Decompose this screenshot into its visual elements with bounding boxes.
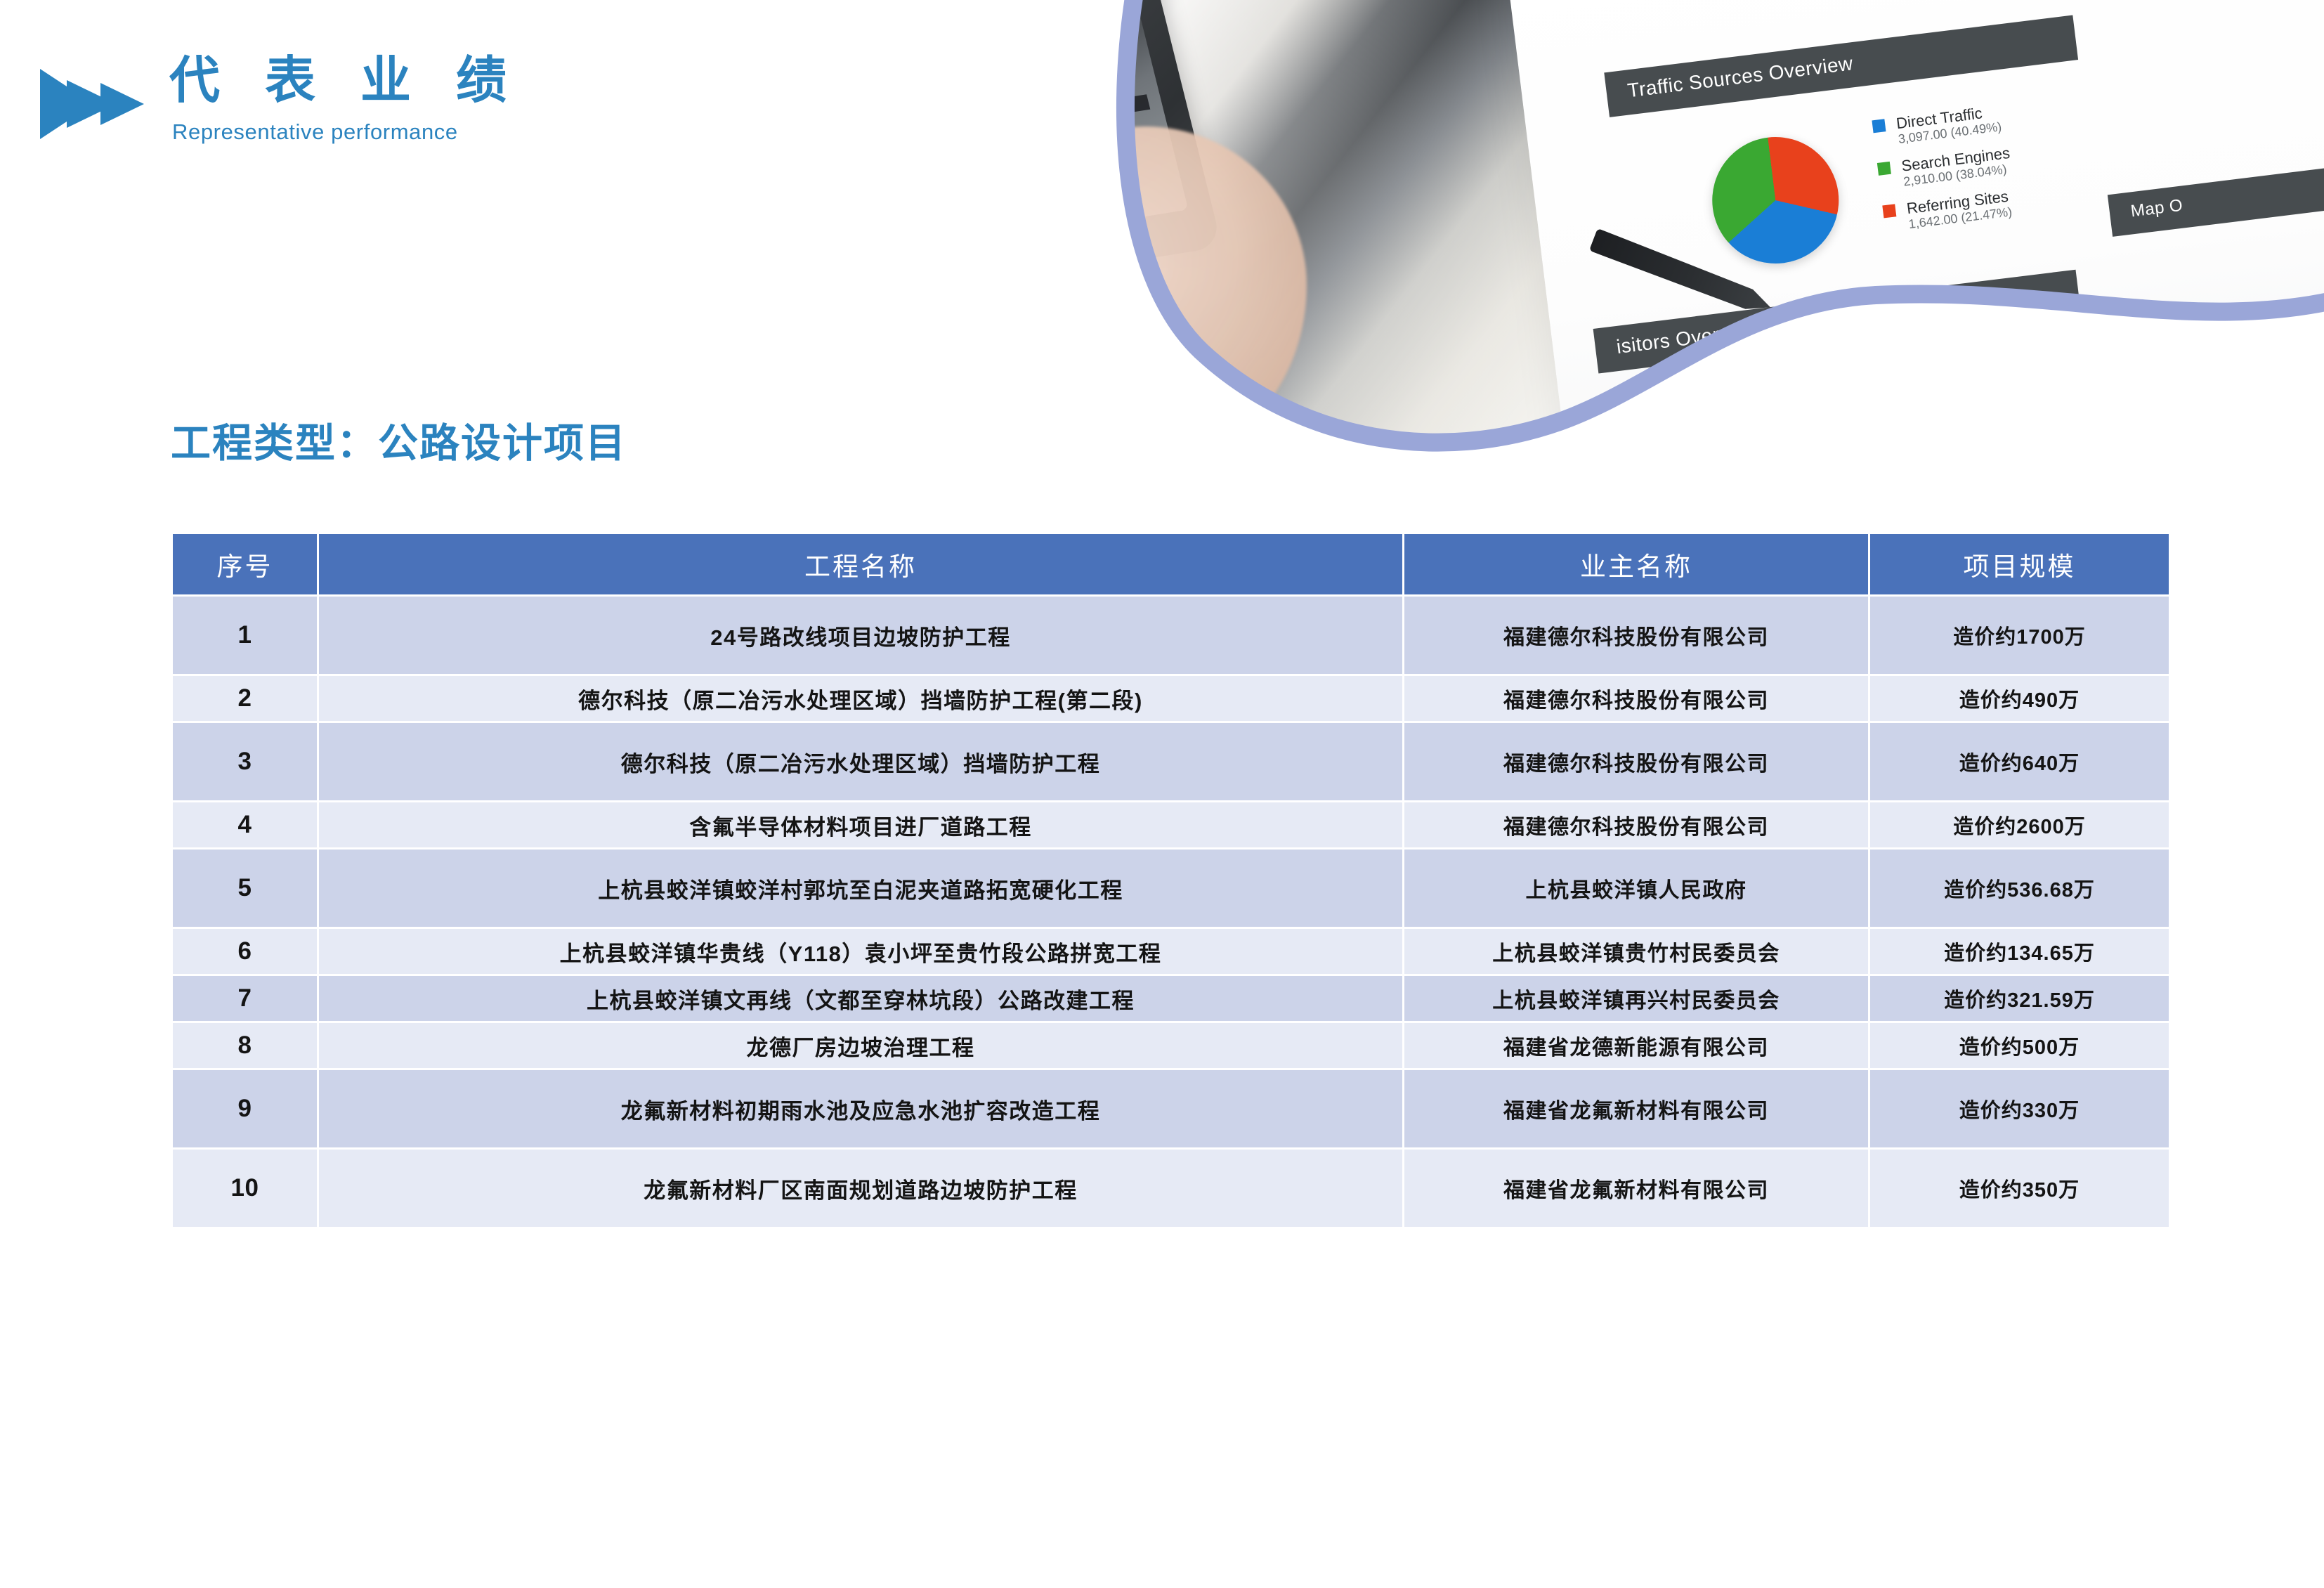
cell-scale: 造价约1700万 [1870,597,2169,674]
cell-owner: 上杭县蛟洋镇贵竹村民委员会 [1404,929,1868,974]
cell-owner: 福建省龙德新能源有限公司 [1404,1023,1868,1068]
table-row: 8 龙德厂房边坡治理工程 福建省龙德新能源有限公司 造价约500万 [173,1023,2169,1068]
logo-subtitle: Representative performance [172,119,522,145]
cell-name: 龙氟新材料厂区南面规划道路边坡防护工程 [319,1150,1402,1227]
table-header: 序号 工程名称 业主名称 项目规模 [173,534,2169,594]
table-row: 6 上杭县蛟洋镇华贵线（Y118）袁小坪至贵竹段公路拼宽工程 上杭县蛟洋镇贵竹村… [173,929,2169,974]
cell-owner: 上杭县蛟洋镇人民政府 [1404,850,1868,927]
cell-no: 7 [173,976,317,1021]
column-header-name: 工程名称 [319,534,1402,594]
cell-no: 3 [173,723,317,800]
table-row: 7 上杭县蛟洋镇文再线（文都至穿林坑段）公路改建工程 上杭县蛟洋镇再兴村民委员会… [173,976,2169,1021]
device-metric-1: 7,00 rate [849,55,896,74]
cell-name: 龙德厂房边坡治理工程 [319,1023,1402,1068]
brand-logo: 代 表 业 绩 Representative performance [39,55,522,145]
table-body: 1 24号路改线项目边坡防护工程 福建德尔科技股份有限公司 造价约1700万 2… [173,597,2169,1227]
cell-no: 5 [173,850,317,927]
column-header-owner: 业主名称 [1404,534,1868,594]
cell-owner: 福建德尔科技股份有限公司 [1404,597,1868,674]
cell-scale: 造价约2600万 [1870,802,2169,847]
legend-swatch-icon [1877,162,1891,176]
cell-owner: 福建省龙氟新材料有限公司 [1404,1150,1868,1227]
cell-name: 上杭县蛟洋镇文再线（文都至穿林坑段）公路改建工程 [319,976,1402,1021]
cell-owner: 福建德尔科技股份有限公司 [1404,676,1868,721]
logo-title: 代 表 业 绩 [169,55,522,108]
cell-scale: 造价约321.59万 [1870,976,2169,1021]
cell-owner: 福建省龙氟新材料有限公司 [1404,1070,1868,1147]
cell-no: 4 [173,802,317,847]
column-header-scale: 项目规模 [1870,534,2169,594]
cell-owner: 上杭县蛟洋镇再兴村民委员会 [1404,976,1868,1021]
cell-name: 龙氟新材料初期雨水池及应急水池扩容改造工程 [319,1070,1402,1147]
cell-name: 上杭县蛟洋镇蛟洋村郭坑至白泥夹道路拓宽硬化工程 [319,850,1402,927]
cell-scale: 造价约134.65万 [1870,929,2169,974]
cell-owner: 福建德尔科技股份有限公司 [1404,723,1868,800]
column-header-no: 序号 [173,534,317,594]
cell-name: 24号路改线项目边坡防护工程 [319,597,1402,674]
hero-photo-image: 7,00 rate 28,433 Pageviews 3.52 Pages/Vi… [808,0,2324,464]
cell-scale: 造价约330万 [1870,1070,2169,1147]
table-row: 3 德尔科技（原二冶污水处理区域）挡墙防护工程 福建德尔科技股份有限公司 造价约… [173,723,2169,800]
device-metric-2: 28,433 Pageviews [856,77,951,103]
cell-no: 1 [173,597,317,674]
panel-title-visitors-overview: isitors Overview [1593,270,2082,374]
legend-swatch-icon [1872,119,1886,133]
cell-name: 德尔科技（原二冶污水处理区域）挡墙防护工程 [319,723,1402,800]
cell-no: 9 [173,1070,317,1147]
table-row: 4 含氟半导体材料项目进厂道路工程 福建德尔科技股份有限公司 造价约2600万 [173,802,2169,847]
cell-scale: 造价约536.68万 [1870,850,2169,927]
page-title: 工程类型：公路设计项目 [171,411,627,469]
performance-table: 序号 工程名称 业主名称 项目规模 1 24号路改线项目边坡防护工程 福建德尔科… [171,532,2171,1229]
cell-no: 10 [173,1150,317,1227]
hero-photo: 7,00 rate 28,433 Pageviews 3.52 Pages/Vi… [808,0,2324,464]
device-metric-3: 3.52 Pages/Visit [863,107,947,131]
cell-name: 含氟半导体材料项目进厂道路工程 [319,802,1402,847]
cell-scale: 造价约500万 [1870,1023,2169,1068]
cell-no: 6 [173,929,317,974]
cell-owner: 福建德尔科技股份有限公司 [1404,802,1868,847]
cell-no: 2 [173,676,317,721]
table-row: 10 龙氟新材料厂区南面规划道路边坡防护工程 福建省龙氟新材料有限公司 造价约3… [173,1150,2169,1227]
analytics-dashboard-photo: Traffic Sources Overview isitors Overvie… [1507,0,2324,464]
cell-name: 上杭县蛟洋镇华贵线（Y118）袁小坪至贵竹段公路拼宽工程 [319,929,1402,974]
triple-chevron-arrow-icon [39,67,145,144]
cell-scale: 造价约490万 [1870,676,2169,721]
hand-photo-element [984,126,1307,457]
cell-scale: 造价约350万 [1870,1150,2169,1227]
cell-scale: 造价约640万 [1870,723,2169,800]
table-row: 5 上杭县蛟洋镇蛟洋村郭坑至白泥夹道路拓宽硬化工程 上杭县蛟洋镇人民政府 造价约… [173,850,2169,927]
cell-no: 8 [173,1023,317,1068]
cell-name: 德尔科技（原二冶污水处理区域）挡墙防护工程(第二段) [319,676,1402,721]
pie-chart-graphic [1705,130,1846,271]
table-row: 9 龙氟新材料初期雨水池及应急水池扩容改造工程 福建省龙氟新材料有限公司 造价约… [173,1070,2169,1147]
panel-title-content-overview: Conte [2117,362,2324,434]
legend-swatch-icon [1882,204,1896,218]
triple-chevron-arrow-svg [39,67,145,141]
table-row: 2 德尔科技（原二冶污水处理区域）挡墙防护工程(第二段) 福建德尔科技股份有限公… [173,676,2169,721]
table-row: 1 24号路改线项目边坡防护工程 福建德尔科技股份有限公司 造价约1700万 [173,597,2169,674]
table-header-row: 序号 工程名称 业主名称 项目规模 [173,534,2169,594]
